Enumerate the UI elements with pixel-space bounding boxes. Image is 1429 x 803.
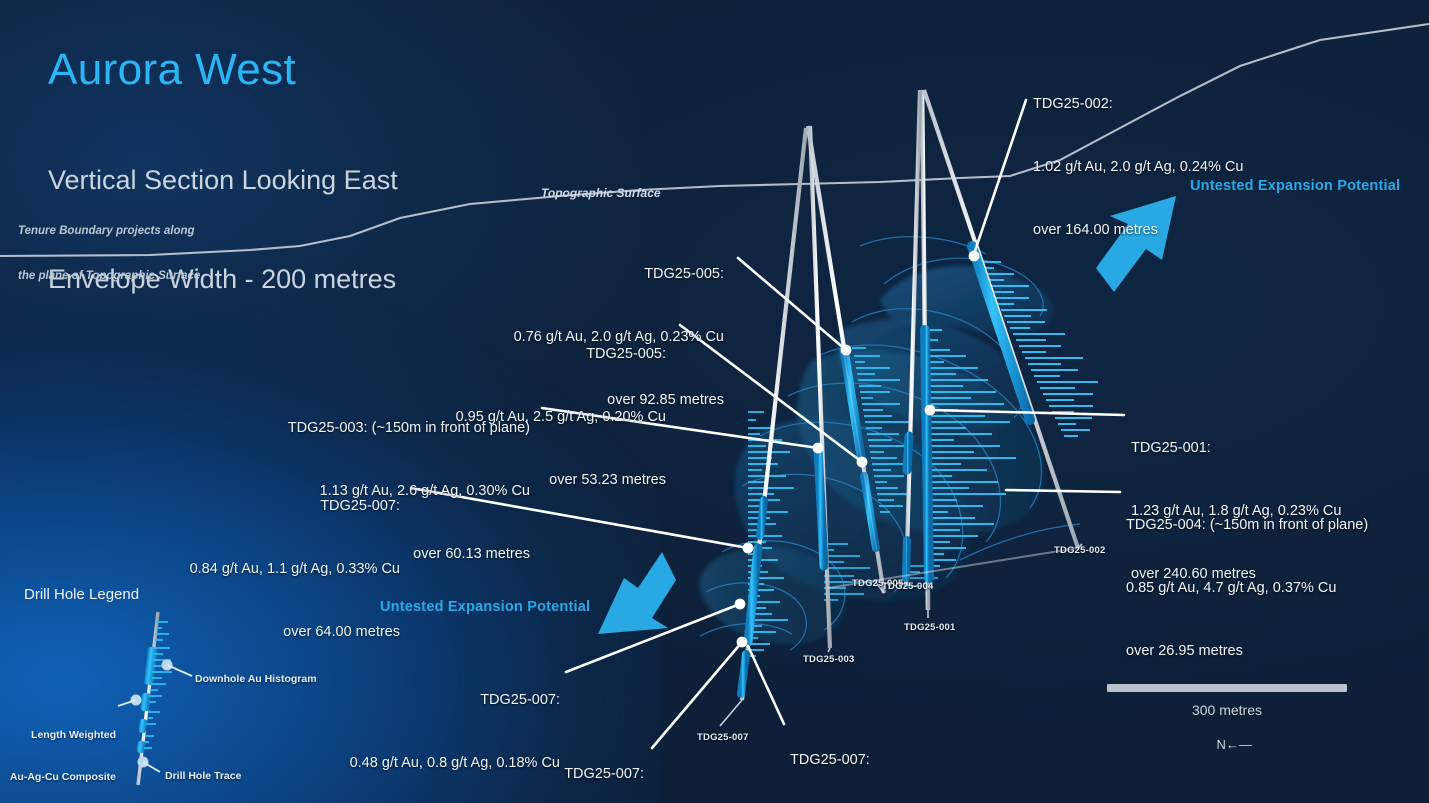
scale-bar-label: 300 metres (1107, 702, 1347, 718)
north-letter: N (1217, 737, 1226, 752)
legend-leaders (118, 660, 192, 773)
scale-bar (1107, 684, 1347, 692)
legend-label-trace: Drill Hole Trace (165, 769, 241, 783)
north-indicator: N←— (1107, 722, 1347, 767)
legend-label-composite: Length Weighted Au-Ag-Cu Composite (0, 700, 116, 803)
legend-label-composite-line-2: Au-Ag-Cu Composite (0, 770, 116, 784)
legend-label-composite-line-1: Length Weighted (0, 728, 116, 742)
section-figure: Aurora West Vertical Section Looking Eas… (0, 0, 1429, 803)
north-arrow-icon: ←— (1226, 737, 1252, 752)
legend-label-downhole-histogram: Downhole Au Histogram (195, 672, 317, 686)
